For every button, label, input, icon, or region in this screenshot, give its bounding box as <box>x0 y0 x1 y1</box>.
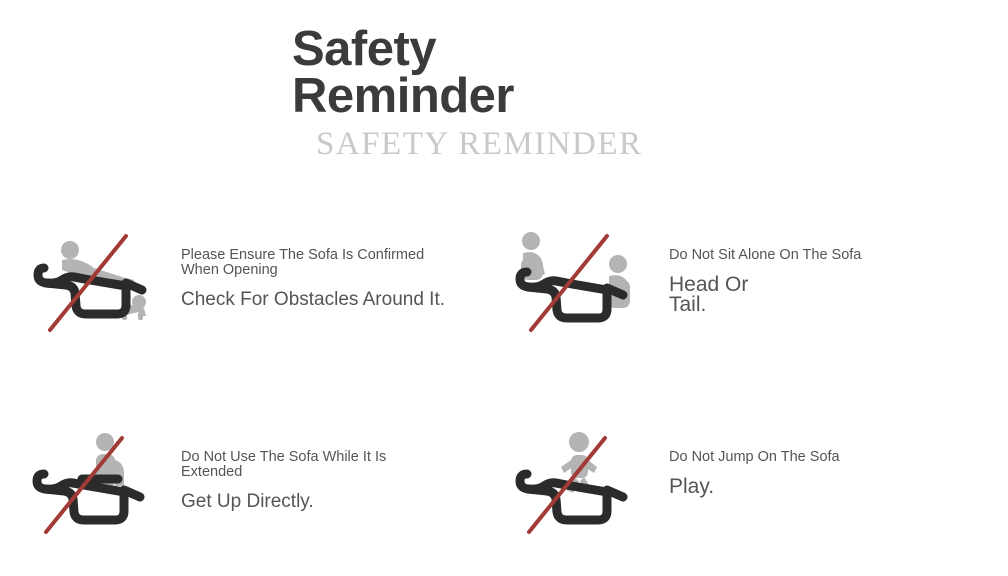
reminder-line-primary: Do Not Jump On The Sofa <box>669 450 985 465</box>
reminder-item: Do Not Jump On The Sofa Play. <box>505 430 985 570</box>
safety-reminder-page: Safety Reminder SAFETY REMINDER <box>0 0 1008 576</box>
reminder-line-primary: Do Not Sit Alone On The Sofa <box>669 248 985 263</box>
reminder-line-primary: Please Ensure The Sofa Is Confirmed When… <box>181 248 502 278</box>
reminder-line-secondary: Check For Obstacles Around It. <box>181 290 502 310</box>
reminder-line-primary: Do Not Use The Sofa While It Is Extended <box>181 450 502 480</box>
no-sit-on-sofa-head-or-tail-icon <box>505 228 645 338</box>
no-jump-on-sofa-icon <box>505 430 645 540</box>
reminder-item: Please Ensure The Sofa Is Confirmed When… <box>22 228 502 368</box>
reminder-line-secondary: Get Up Directly. <box>181 492 502 512</box>
reminder-item-text: Do Not Use The Sofa While It Is Extended… <box>162 430 502 512</box>
reminder-item-text: Do Not Sit Alone On The Sofa Head Or Tai… <box>645 228 985 315</box>
no-use-sofa-while-extended-icon <box>22 430 162 540</box>
reminder-line-secondary: Head Or Tail. <box>669 275 985 315</box>
reminder-item-text: Do Not Jump On The Sofa Play. <box>645 430 985 497</box>
reminder-line-secondary: Play. <box>669 477 985 497</box>
reminder-item: Do Not Sit Alone On The Sofa Head Or Tai… <box>505 228 985 368</box>
no-recline-with-child-nearby-icon <box>22 228 162 338</box>
reminder-item: Do Not Use The Sofa While It Is Extended… <box>22 430 502 570</box>
page-header: Safety Reminder SAFETY REMINDER <box>292 26 712 156</box>
page-subtitle: SAFETY REMINDER <box>316 126 643 163</box>
reminder-item-text: Please Ensure The Sofa Is Confirmed When… <box>162 228 502 310</box>
page-title: Safety Reminder <box>292 26 712 120</box>
reminder-items: Please Ensure The Sofa Is Confirmed When… <box>0 218 1008 558</box>
